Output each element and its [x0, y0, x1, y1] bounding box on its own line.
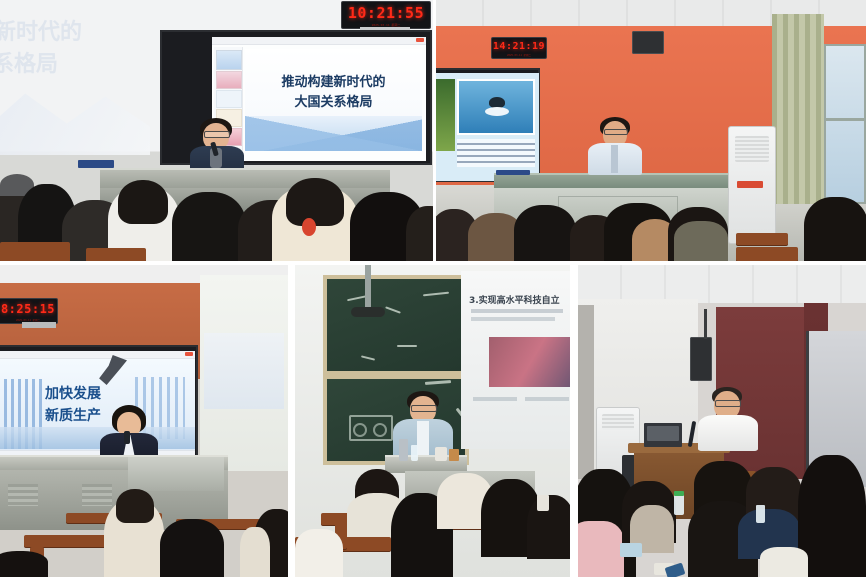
speaker-cable — [704, 309, 707, 339]
presentation-slide — [436, 73, 539, 181]
clock-mount — [22, 322, 56, 328]
photo-panel-bottom-middle[interactable]: 3.实现高水平科技自立 — [295, 265, 570, 577]
projector — [351, 307, 385, 317]
laptop — [644, 423, 682, 447]
microphone-icon — [124, 431, 130, 444]
window-divider — [824, 118, 866, 121]
slide-side-photo — [436, 79, 455, 151]
cup — [435, 447, 447, 461]
slide-canvas: 推动构建新时代的 大国关系格局 — [245, 49, 422, 151]
projector-mount — [365, 265, 371, 309]
bottle-cap — [674, 491, 684, 496]
robot-arm-graphic — [93, 355, 127, 385]
slide-title-line2: 新质生产 — [45, 405, 101, 425]
speaker-figure — [698, 387, 758, 451]
photo-collage: 新时代的 系格局 10:21:55 2025-03-11 星期二 推动构建新时 — [0, 0, 866, 577]
slide-toolbar — [0, 351, 195, 359]
thermos — [399, 439, 408, 461]
glasses-icon — [604, 129, 628, 135]
slide-title-line2: 大国关系格局 — [294, 91, 372, 110]
audience-row — [436, 191, 866, 261]
display-screen-frame — [436, 68, 540, 182]
clock-time: 8:25:15 — [1, 302, 55, 316]
book-on-desk — [496, 170, 530, 175]
wall-speaker-icon — [690, 337, 712, 381]
digital-clock-top-left: 10:21:55 2025-03-11 星期二 — [341, 1, 431, 29]
speaker-figure — [586, 117, 644, 175]
glasses-icon — [715, 400, 741, 407]
clock-date: 2025-03-11 星期二 — [492, 53, 546, 57]
photo-panel-top-right[interactable]: 14:21:19 2025-03-11 星期二 — [436, 0, 866, 261]
water-bottle — [674, 493, 684, 515]
audience-row — [0, 485, 288, 577]
digital-clock-top-right: 14:21:19 2025-03-11 星期二 — [491, 37, 547, 59]
projection-screen: 3.实现高水平科技自立 — [461, 271, 570, 449]
slide-photo — [489, 337, 570, 387]
slide-heading: 3.实现高水平科技自立 — [469, 293, 560, 306]
photo-panel-bottom-left[interactable]: 8:25:15 2025-03-11 星期二 加快发展 新质生产 — [0, 265, 288, 577]
display-screen-frame: 加快发展 新质生产 — [0, 345, 198, 461]
audience-row — [0, 156, 433, 261]
glasses-icon — [411, 405, 437, 412]
audience-row — [578, 447, 866, 577]
photo-panel-bottom-right[interactable] — [578, 265, 866, 577]
slide-caption-text — [457, 139, 535, 167]
ghost-projection-line1: 新时代的 — [0, 14, 82, 46]
slide-title-line1: 推动构建新时代的 — [281, 71, 385, 90]
presentation-slide: 加快发展 新质生产 — [0, 351, 195, 459]
projection-wall — [200, 275, 288, 471]
chalkboard-upper — [323, 275, 469, 375]
water-bottle — [756, 505, 765, 523]
hoodie-patch — [302, 218, 316, 236]
slide-bird-photo — [457, 79, 535, 135]
audience-row — [295, 467, 570, 577]
slide-toolbar — [212, 37, 426, 45]
wall-speaker-icon — [632, 31, 664, 54]
ghost-projection-line2: 系格局 — [0, 46, 58, 78]
slide-foreground — [0, 427, 195, 449]
cup — [620, 543, 642, 557]
box-on-lectern — [449, 449, 459, 461]
cup — [537, 495, 549, 511]
water-bottle — [411, 445, 418, 461]
ac-label — [737, 181, 763, 188]
digital-clock-bottom-left: 8:25:15 2025-03-11 星期二 — [0, 298, 58, 324]
window-curtain — [772, 14, 824, 204]
clock-time: 10:21:55 — [348, 4, 424, 22]
photo-panel-top-left[interactable]: 新时代的 系格局 10:21:55 2025-03-11 星期二 推动构建新时 — [0, 0, 433, 261]
slide-mountain-graphic — [245, 116, 422, 151]
clock-time: 14:21:19 — [493, 41, 545, 52]
ceiling — [578, 265, 866, 303]
glasses-icon — [204, 131, 230, 138]
window — [824, 44, 866, 204]
slide-title-line1: 加快发展 — [45, 383, 101, 403]
